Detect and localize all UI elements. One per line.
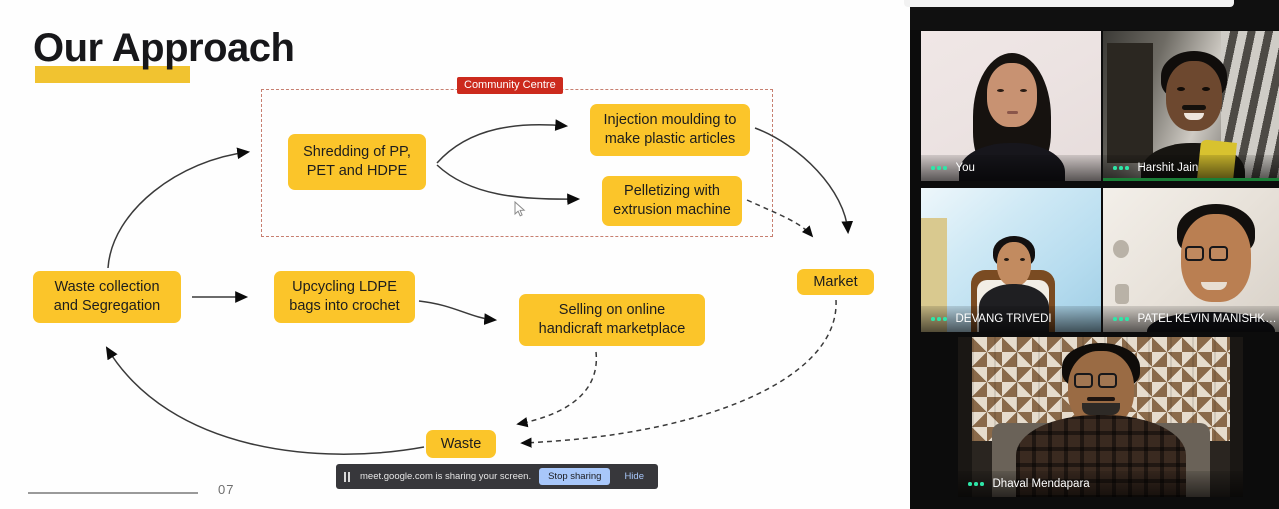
participant-name: Harshit Jain (1138, 162, 1199, 174)
node-shredding: Shredding of PP, PET and HDPE (288, 134, 426, 190)
meet-participants-panel: You Harshit (910, 0, 1279, 509)
meet-topbar (910, 0, 1279, 30)
page-title: Our Approach (33, 28, 294, 68)
hide-button[interactable]: Hide (618, 471, 650, 482)
page-number: 07 (218, 482, 234, 497)
participant-name: Dhaval Mendapara (993, 478, 1090, 490)
node-pelletizing: Pelletizing with extrusion machine (602, 176, 742, 226)
node-market: Market (797, 269, 874, 295)
page-rule (28, 492, 198, 494)
participant-tile-you[interactable]: You (921, 31, 1101, 181)
active-speaker-bar (1103, 178, 1279, 181)
community-centre-label: Community Centre (457, 77, 563, 94)
node-upcycling: Upcycling LDPE bags into crochet (274, 271, 415, 323)
tile-name-bar: Dhaval Mendapara (958, 471, 1243, 497)
shared-slide: Our Approach (0, 0, 910, 509)
tile-name-bar: DEVANG TRIVEDI (921, 306, 1101, 332)
participant-tile-harshit-jain[interactable]: Harshit Jain (1103, 31, 1279, 181)
mic-indicator-icon (1113, 166, 1129, 170)
mic-indicator-icon (931, 166, 947, 170)
tile-name-bar: PATEL KEVIN MANISHK… (1103, 306, 1279, 332)
stop-sharing-button[interactable]: Stop sharing (539, 468, 610, 485)
participant-name: PATEL KEVIN MANISHK… (1138, 313, 1277, 325)
screen-share-toolbar: meet.google.com is sharing your screen. … (336, 464, 658, 489)
node-waste: Waste (426, 430, 496, 458)
mouse-cursor-icon (514, 201, 526, 218)
mic-indicator-icon (931, 317, 947, 321)
pause-icon[interactable] (344, 472, 350, 482)
participant-name: DEVANG TRIVEDI (956, 313, 1052, 325)
participant-name: You (956, 162, 975, 174)
tile-name-bar: You (921, 155, 1101, 181)
node-injection-moulding: Injection moulding to make plastic artic… (590, 104, 750, 156)
mic-indicator-icon (968, 482, 984, 486)
mic-indicator-icon (1113, 317, 1129, 321)
participant-tile-dhaval-mendapara[interactable]: Dhaval Mendapara (958, 337, 1243, 497)
meet-topbar-sheet (904, 0, 1234, 7)
participant-tile-patel-kevin[interactable]: PATEL KEVIN MANISHK… (1103, 188, 1279, 332)
node-selling-online: Selling on online handicraft marketplace (519, 294, 705, 346)
sharing-message: meet.google.com is sharing your screen. (360, 471, 531, 482)
node-waste-collection: Waste collection and Segregation (33, 271, 181, 323)
participant-tile-devang-trivedi[interactable]: DEVANG TRIVEDI (921, 188, 1101, 332)
screen: Our Approach (0, 0, 1279, 509)
